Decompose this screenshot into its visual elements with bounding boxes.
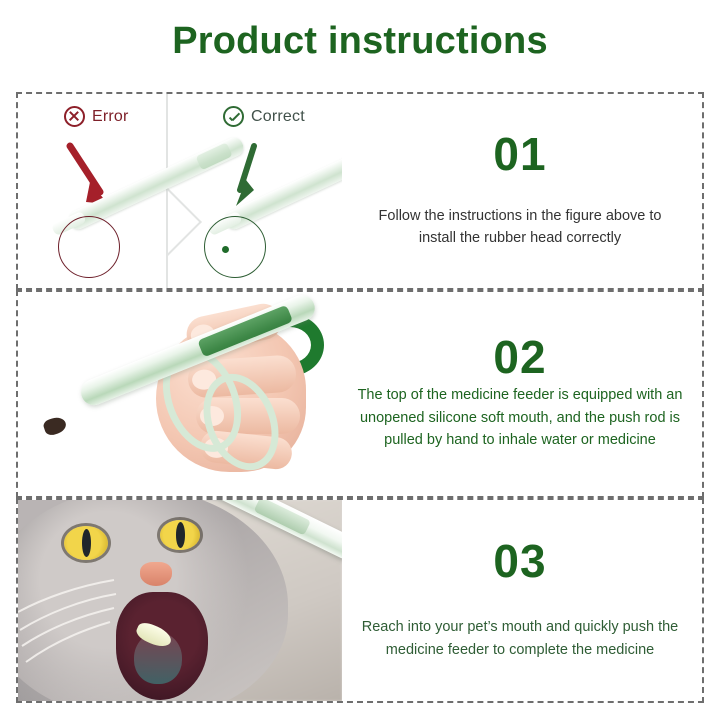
x-circle-icon bbox=[64, 106, 85, 127]
error-badge: Error bbox=[64, 106, 129, 127]
step-03-copy: 03 Reach into your pet’s mouth and quick… bbox=[342, 500, 702, 701]
step-02-illustration bbox=[18, 292, 342, 496]
page-title: Product instructions bbox=[0, 20, 720, 63]
step-03-illustration bbox=[18, 500, 342, 701]
correct-label: Correct bbox=[251, 108, 305, 126]
step-panel-03: 03 Reach into your pet’s mouth and quick… bbox=[16, 498, 704, 703]
pupil bbox=[176, 522, 185, 547]
cat-eye-left bbox=[64, 526, 108, 560]
step-panel-02: 02 The top of the medicine feeder is equ… bbox=[16, 290, 704, 498]
check-circle-icon bbox=[223, 106, 244, 127]
step-number: 03 bbox=[493, 538, 546, 584]
step-description: Reach into your pet’s mouth and quickly … bbox=[360, 616, 680, 661]
correct-highlight-circle bbox=[204, 216, 266, 278]
step-01-illustration: Error Correct bbox=[18, 94, 342, 288]
step-description: Follow the instructions in the figure ab… bbox=[360, 205, 680, 250]
error-highlight-circle bbox=[58, 216, 120, 278]
error-label: Error bbox=[92, 108, 129, 126]
step-description: The top of the medicine feeder is equipp… bbox=[355, 384, 685, 451]
steps-container: Error Correct bbox=[16, 92, 704, 703]
step-02-copy: 02 The top of the medicine feeder is equ… bbox=[342, 292, 702, 496]
correct-badge: Correct bbox=[223, 106, 305, 127]
comparison-divider bbox=[166, 94, 168, 288]
pupil bbox=[82, 529, 91, 558]
silicone-soft-mouth bbox=[42, 415, 68, 437]
step-01-copy: 01 Follow the instructions in the figure… bbox=[342, 94, 702, 288]
step-number: 02 bbox=[493, 334, 546, 380]
cat-eye-right bbox=[160, 520, 200, 550]
product-instructions-page: Product instructions Error bbox=[0, 0, 720, 720]
step-number: 01 bbox=[493, 131, 546, 177]
step-panel-01: Error Correct bbox=[16, 92, 704, 290]
